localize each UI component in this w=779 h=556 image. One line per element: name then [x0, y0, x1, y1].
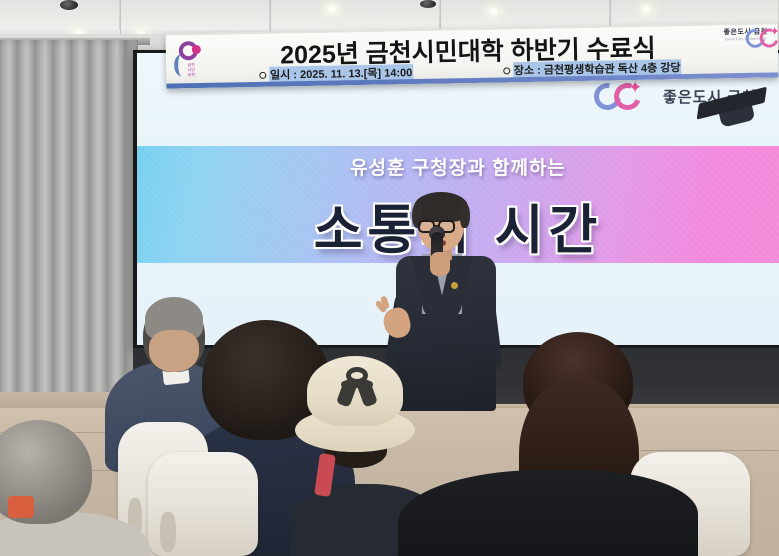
- bullet-ring-icon: [503, 67, 510, 74]
- event-photo-scene: ✦ 좋은도시 금천 유성훈 구청장과 함께하는 소통의 시간 금천시민대학 20…: [0, 0, 779, 556]
- gc-logo-icon: ✦: [594, 81, 656, 111]
- star-icon: ✦: [628, 79, 642, 96]
- ceiling-speaker-icon: [420, 0, 436, 8]
- ceiling-downlight: [325, 5, 339, 13]
- bullet-ring-icon: [259, 71, 266, 78]
- ceiling-downlight: [487, 8, 500, 15]
- emblem-label: 금천시민대학: [178, 62, 204, 77]
- presenter-hand-holding-mic: [430, 252, 450, 276]
- university-emblem-icon: 금천시민대학: [170, 38, 211, 85]
- ceiling-speaker-icon: [60, 0, 78, 10]
- presenter-lapel-pin: [451, 282, 458, 289]
- hat-logo-icon: [337, 367, 377, 407]
- audience-member-gray-hair-front-left: [0, 420, 120, 556]
- ceremony-banner: 금천시민대학 2025년 금천시민대학 하반기 수료식 일시 : 2025. 1…: [166, 22, 779, 88]
- banner-brand-logo: ✦ 좋은도시 금천 Good City Geumcheon: [718, 26, 774, 41]
- ceiling-downlight: [640, 6, 653, 13]
- audience-member-dark-jacket-foreground: [398, 470, 698, 556]
- star-icon: ✦: [769, 24, 778, 38]
- screen-subtitle: 유성훈 구청장과 함께하는: [137, 153, 779, 180]
